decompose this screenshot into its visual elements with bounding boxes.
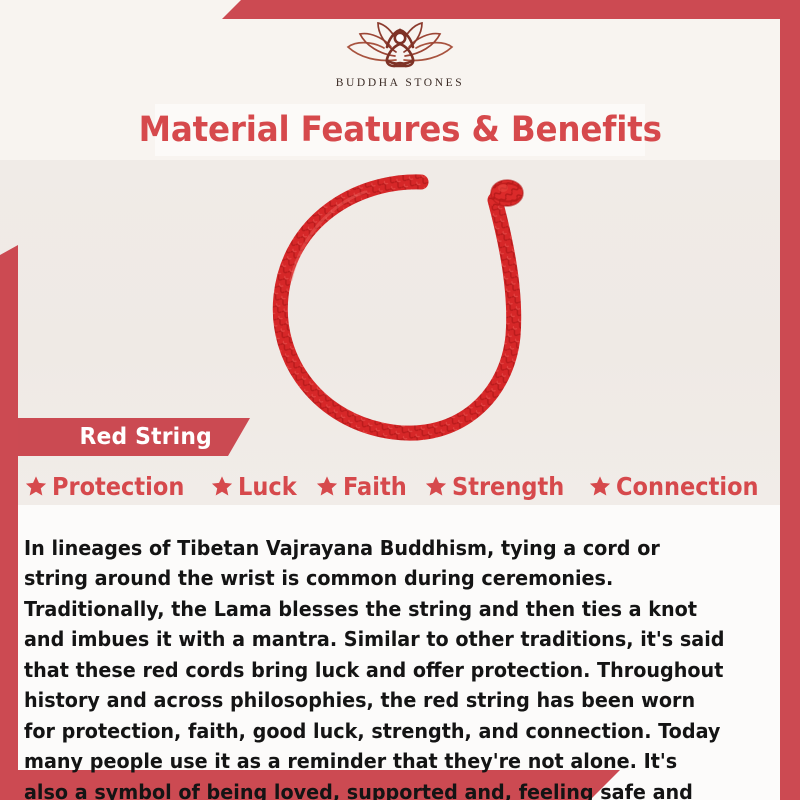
benefit-item-strength: Strength (425, 474, 577, 499)
star-icon (25, 475, 47, 497)
star-icon (589, 475, 611, 497)
star-icon (425, 475, 447, 497)
benefit-label: Strength (452, 474, 564, 499)
description-paragraph: In lineages of Tibetan Vajrayana Buddhis… (24, 533, 727, 800)
benefit-label: Connection (616, 474, 759, 499)
benefit-item-connection: Connection (589, 474, 774, 499)
page-title: Material Features & Benefits (138, 113, 661, 148)
benefit-item-faith: Faith (316, 474, 414, 499)
decor-band-left (0, 245, 18, 785)
bracelet-illustration (245, 160, 575, 460)
benefit-label: Protection (52, 474, 184, 499)
product-image-red-string-bracelet (245, 160, 575, 460)
star-icon (211, 475, 233, 497)
decor-band-right (780, 18, 800, 800)
star-icon (316, 475, 338, 497)
infographic-poster: BUDDHA STONES Material Features & Benefi… (0, 0, 800, 800)
benefit-label: Faith (343, 474, 407, 499)
product-name-label: Red String (79, 424, 211, 450)
product-name-ribbon: Red String (18, 418, 250, 456)
benefits-list: Protection Luck Faith Strength Connectio (30, 466, 770, 506)
brand-logo: BUDDHA STONES (0, 16, 800, 98)
brand-wordmark: BUDDHA STONES (336, 77, 464, 89)
lotus-meditation-icon (334, 16, 466, 76)
benefit-item-protection: Protection (25, 474, 199, 499)
title-banner: Material Features & Benefits (155, 104, 645, 156)
benefit-label: Luck (238, 474, 297, 499)
benefit-item-luck: Luck (211, 474, 303, 499)
